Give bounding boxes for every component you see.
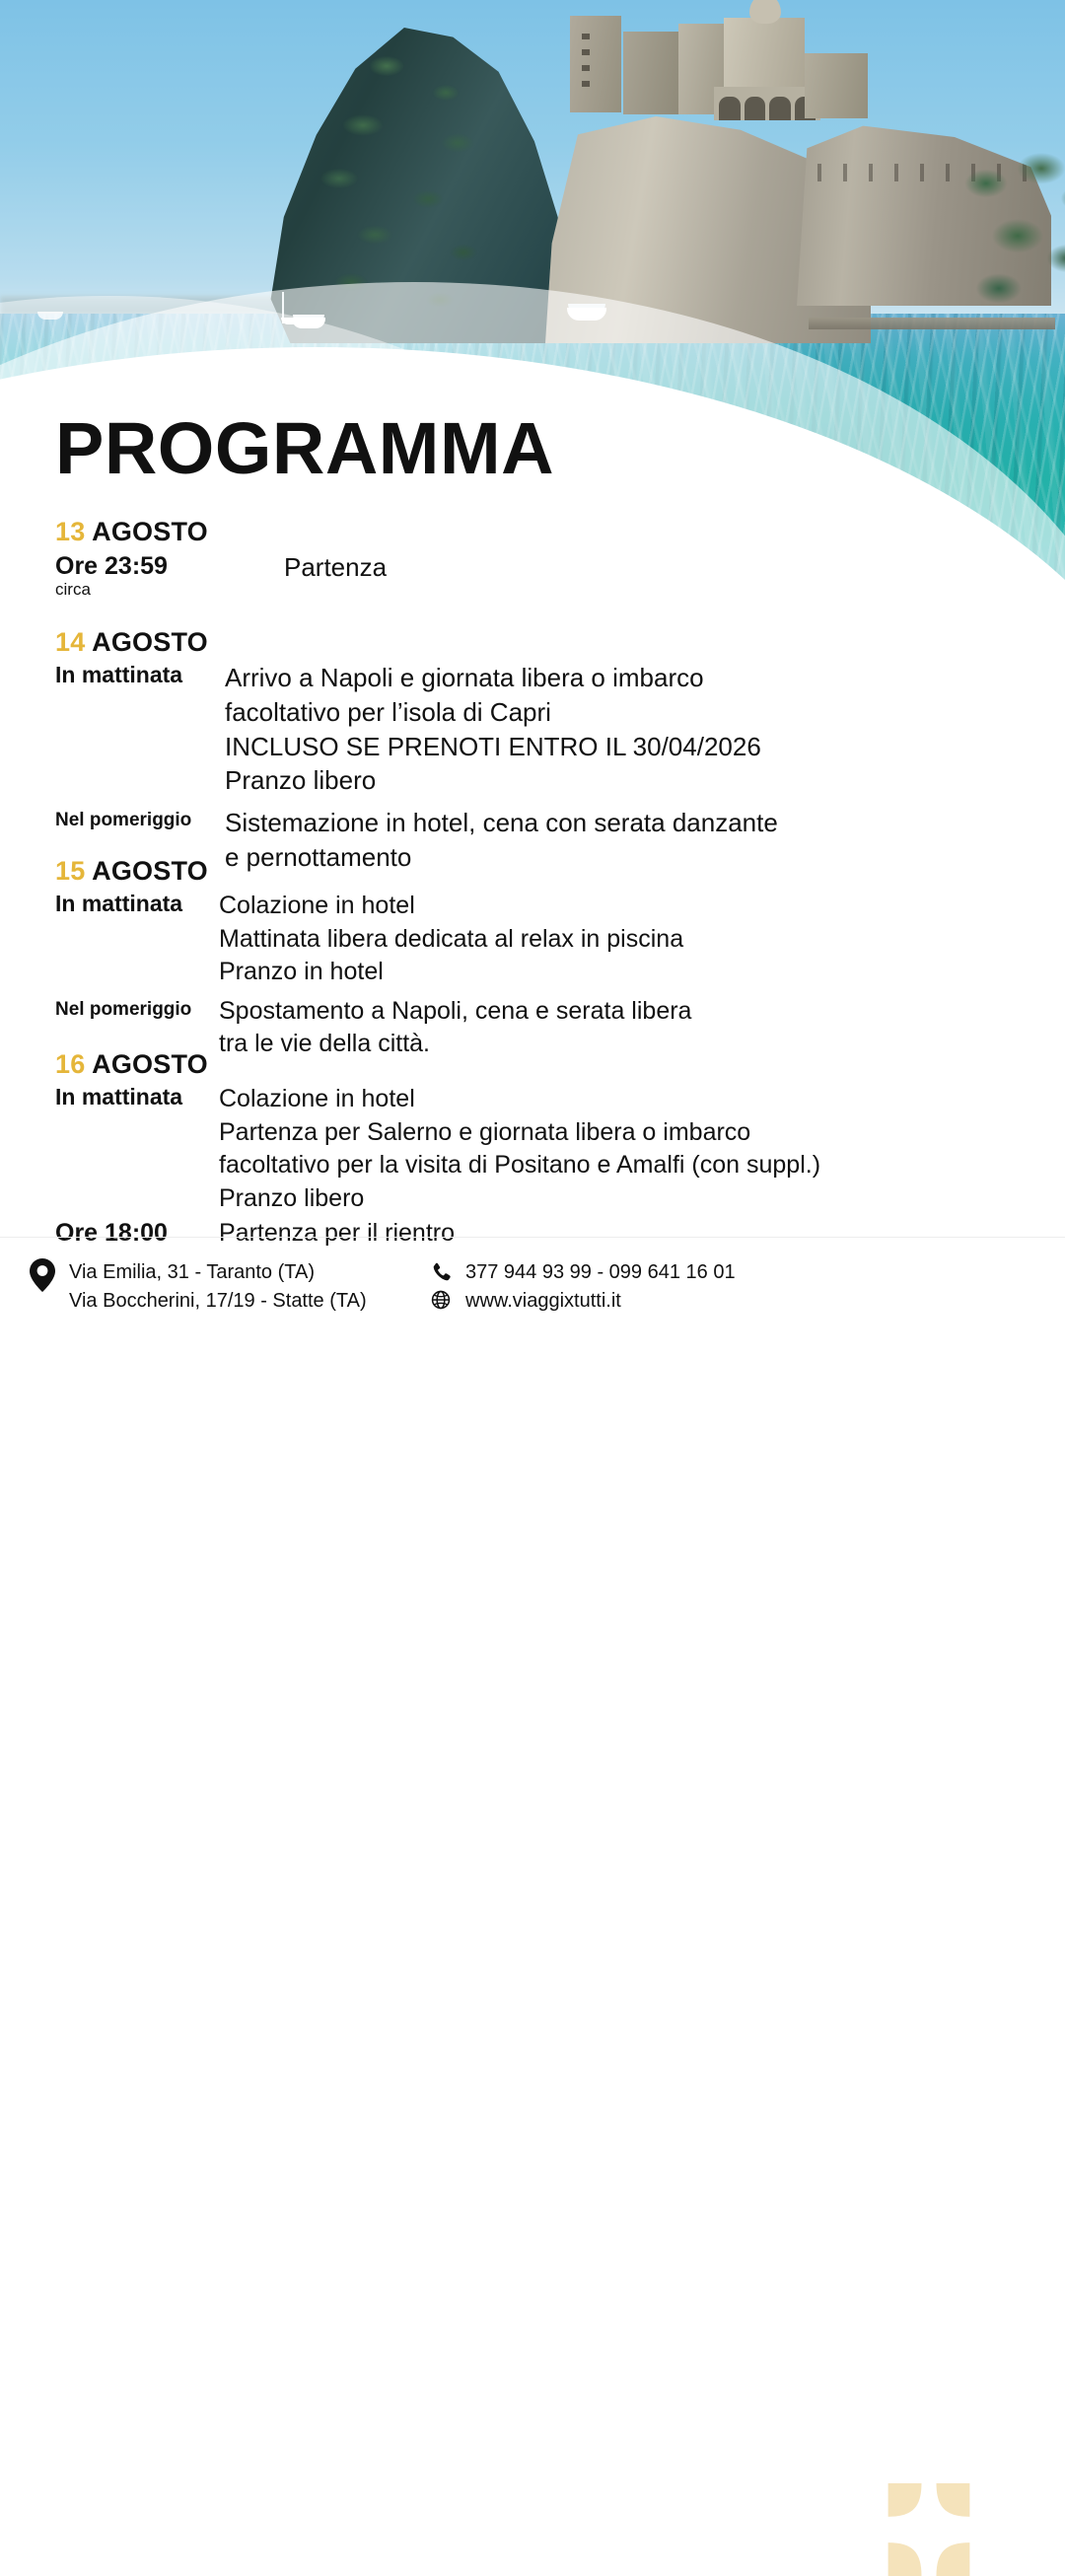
day-14-row-1: In mattinata Arrivo a Napoli e giornata …	[55, 661, 778, 798]
activity-line: Spostamento a Napoli, cena e serata libe…	[219, 995, 691, 1029]
contact-lines: 377 944 93 99 - 099 641 16 01 www.viaggi…	[465, 1258, 736, 1316]
day-15-row-1-text: Colazione in hotel Mattinata libera dedi…	[219, 890, 683, 989]
day-13-row-1-text: Partenza	[284, 550, 387, 585]
activity-line: Colazione in hotel	[219, 1083, 820, 1116]
phone-number: 377 944 93 99 - 099 641 16 01	[465, 1258, 736, 1287]
day-block-13: 13 AGOSTO Ore 23:59 circa Partenza	[55, 517, 387, 600]
footer-address: Via Emilia, 31 - Taranto (TA) Via Bocche…	[30, 1258, 367, 1316]
day-number-14: 14	[55, 627, 85, 657]
address-lines: Via Emilia, 31 - Taranto (TA) Via Bocche…	[69, 1258, 367, 1316]
activity-line: Arrivo a Napoli e giornata libera o imba…	[225, 661, 761, 695]
day-block-16: 16 AGOSTO In mattinata Colazione in hote…	[55, 1049, 820, 1251]
day-16-row-1-label: In mattinata	[55, 1083, 219, 1112]
address-line-1: Via Emilia, 31 - Taranto (TA)	[69, 1258, 367, 1287]
day-heading-15: 15 AGOSTO	[55, 856, 691, 887]
activity-line: facoltativo per la visita di Positano e …	[219, 1149, 820, 1182]
day-15-row-1: In mattinata Colazione in hotel Mattinat…	[55, 890, 691, 989]
location-pin-icon	[30, 1258, 55, 1292]
day-number-13: 13	[55, 517, 85, 546]
day-13-row-1-sublabel: circa	[55, 580, 225, 600]
day-number-16: 16	[55, 1049, 85, 1079]
day-15-row-1-label: In mattinata	[55, 890, 219, 919]
activity-line: Pranzo in hotel	[219, 956, 683, 989]
activity-line: INCLUSO SE PRENOTI ENTRO IL 30/04/2026	[225, 730, 761, 764]
activity-line: Mattinata libera dedicata al relax in pi…	[219, 923, 683, 957]
activity-line: Pranzo libero	[219, 1182, 820, 1216]
day-month-14: AGOSTO	[92, 627, 208, 657]
footer: Via Emilia, 31 - Taranto (TA) Via Bocche…	[0, 1245, 1065, 1331]
day-16-row-1: In mattinata Colazione in hotel Partenza…	[55, 1083, 820, 1215]
activity-line: facoltativo per l’isola di Capri	[225, 695, 761, 730]
four-petal-logo	[860, 2483, 998, 2576]
day-month-16: AGOSTO	[92, 1049, 208, 1079]
address-line-2: Via Boccherini, 17/19 - Statte (TA)	[69, 1287, 367, 1316]
programme-content: PROGRAMMA 13 AGOSTO Ore 23:59 circa Part…	[0, 0, 1065, 1331]
contact-icons	[430, 1258, 452, 1311]
activity-line: Sistemazione in hotel, cena con serata d…	[225, 806, 778, 840]
day-block-15: 15 AGOSTO In mattinata Colazione in hote…	[55, 856, 691, 1061]
day-14-row-1-label: In mattinata	[55, 661, 225, 690]
day-heading-13: 13 AGOSTO	[55, 517, 387, 547]
activity-line: Partenza	[284, 550, 387, 585]
day-heading-16: 16 AGOSTO	[55, 1049, 820, 1080]
day-14-row-1-text: Arrivo a Napoli e giornata libera o imba…	[225, 661, 761, 798]
activity-line: Partenza per Salerno e giornata libera o…	[219, 1116, 820, 1150]
page-title: PROGRAMMA	[55, 412, 554, 485]
day-15-row-2-label: Nel pomeriggio	[55, 995, 219, 1025]
day-13-row-1-label: Ore 23:59	[55, 550, 225, 582]
day-14-row-2-label: Nel pomeriggio	[55, 806, 225, 835]
day-heading-14: 14 AGOSTO	[55, 627, 778, 658]
footer-divider	[0, 1237, 1065, 1238]
activity-line: Pranzo libero	[225, 763, 761, 798]
footer-contact: 377 944 93 99 - 099 641 16 01 www.viaggi…	[430, 1258, 736, 1316]
day-13-row-1-label-col: Ore 23:59 circa	[55, 550, 225, 600]
day-16-row-1-text: Colazione in hotel Partenza per Salerno …	[219, 1083, 820, 1215]
globe-icon	[430, 1289, 452, 1311]
day-month-13: AGOSTO	[92, 517, 208, 546]
day-block-14: 14 AGOSTO In mattinata Arrivo a Napoli e…	[55, 627, 778, 875]
phone-icon	[430, 1261, 452, 1283]
day-13-row-1: Ore 23:59 circa Partenza	[55, 550, 387, 600]
day-month-15: AGOSTO	[92, 856, 208, 886]
activity-line: Colazione in hotel	[219, 890, 683, 923]
day-number-15: 15	[55, 856, 85, 886]
website-url[interactable]: www.viaggixtutti.it	[465, 1287, 736, 1316]
